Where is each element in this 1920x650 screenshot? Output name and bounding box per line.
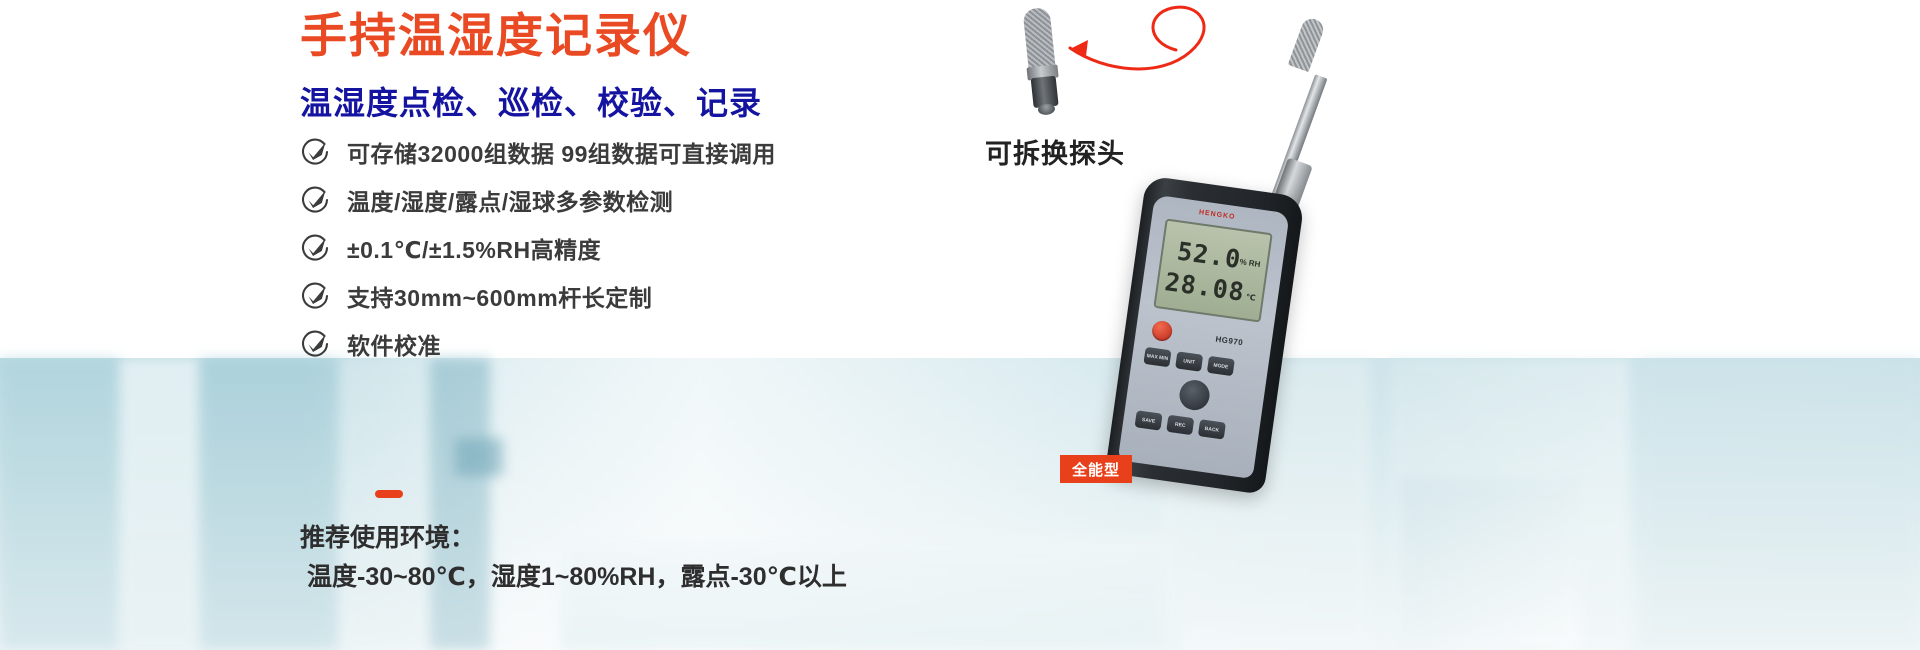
- humidity-unit: % RH: [1239, 257, 1261, 269]
- check-circle-icon: [300, 137, 330, 167]
- background-shape: [1640, 358, 1920, 650]
- check-circle-icon: [300, 185, 330, 215]
- page-title: 手持温湿度记录仪: [300, 9, 692, 63]
- key-save[interactable]: SAVE: [1134, 410, 1162, 430]
- device-body: HENGKO 52.0 % RH 28.08 ℃ HG970 MAX MIN U…: [1105, 175, 1305, 494]
- list-item-label: 可存储32000组数据 99组数据可直接调用: [347, 135, 776, 169]
- list-item: 软件校准: [300, 322, 1000, 365]
- key-max-min[interactable]: MAX MIN: [1143, 347, 1171, 367]
- background-shape: [200, 358, 340, 650]
- list-item-label: 温度/湿度/露点/湿球多参数检测: [347, 183, 673, 217]
- product-image: HENGKO 52.0 % RH 28.08 ℃ HG970 MAX MIN U…: [1030, 10, 1360, 490]
- list-item: ±0.1℃/±1.5%RH高精度: [300, 226, 1000, 269]
- check-circle-icon: [300, 329, 330, 359]
- background-shape: [340, 358, 430, 650]
- status-badge: 全能型: [1060, 455, 1132, 483]
- check-circle-icon: [300, 281, 330, 311]
- environment-detail: 温度-30~80℃，湿度1~80%RH，露点-30℃以上: [307, 557, 847, 593]
- environment-band: [0, 358, 1920, 650]
- power-button[interactable]: [1151, 320, 1174, 343]
- device-probe-mesh: [1288, 16, 1326, 72]
- temperature-unit: ℃: [1245, 292, 1256, 302]
- list-item-label: ±0.1℃/±1.5%RH高精度: [347, 231, 601, 265]
- humidity-value: 52.0: [1175, 236, 1243, 274]
- list-item-label: 软件校准: [347, 327, 441, 361]
- product-banner: 手持温湿度记录仪 温湿度点检、巡检、校验、记录 可存储32000组数据 99组数…: [0, 0, 1920, 650]
- lcd-display: 52.0 % RH 28.08 ℃: [1153, 218, 1272, 322]
- background-shape: [1400, 478, 1580, 650]
- background-shape: [560, 538, 1180, 650]
- key-unit[interactable]: UNIT: [1175, 351, 1203, 371]
- device-front-panel: HENGKO 52.0 % RH 28.08 ℃ HG970 MAX MIN U…: [1118, 195, 1290, 479]
- model-label: HG970: [1215, 335, 1244, 348]
- background-shape: [120, 358, 200, 650]
- key-back[interactable]: BACK: [1198, 419, 1226, 439]
- feature-list: 可存储32000组数据 99组数据可直接调用 温度/湿度/露点/湿球多参数检测 …: [300, 130, 1000, 370]
- device-keypad: MAX MIN UNIT MODE SAVE REC BACK: [1128, 347, 1258, 472]
- navigation-pad[interactable]: [1178, 378, 1212, 412]
- check-circle-icon: [300, 233, 330, 263]
- background-shape: [430, 358, 490, 650]
- list-item: 可存储32000组数据 99组数据可直接调用: [300, 130, 1000, 173]
- page-subtitle: 温湿度点检、巡检、校验、记录: [300, 78, 762, 124]
- environment-title: 推荐使用环境：: [300, 518, 475, 554]
- key-rec[interactable]: REC: [1166, 415, 1194, 435]
- brand-label: HENGKO: [1199, 209, 1236, 221]
- key-mode[interactable]: MODE: [1207, 356, 1235, 376]
- list-item: 温度/湿度/露点/湿球多参数检测: [300, 178, 1000, 221]
- background-shape: [0, 358, 120, 650]
- background-shape: [455, 438, 503, 476]
- list-item-label: 支持30mm~600mm杆长定制: [347, 279, 652, 313]
- list-item: 支持30mm~600mm杆长定制: [300, 274, 1000, 317]
- divider-dash: [375, 490, 403, 498]
